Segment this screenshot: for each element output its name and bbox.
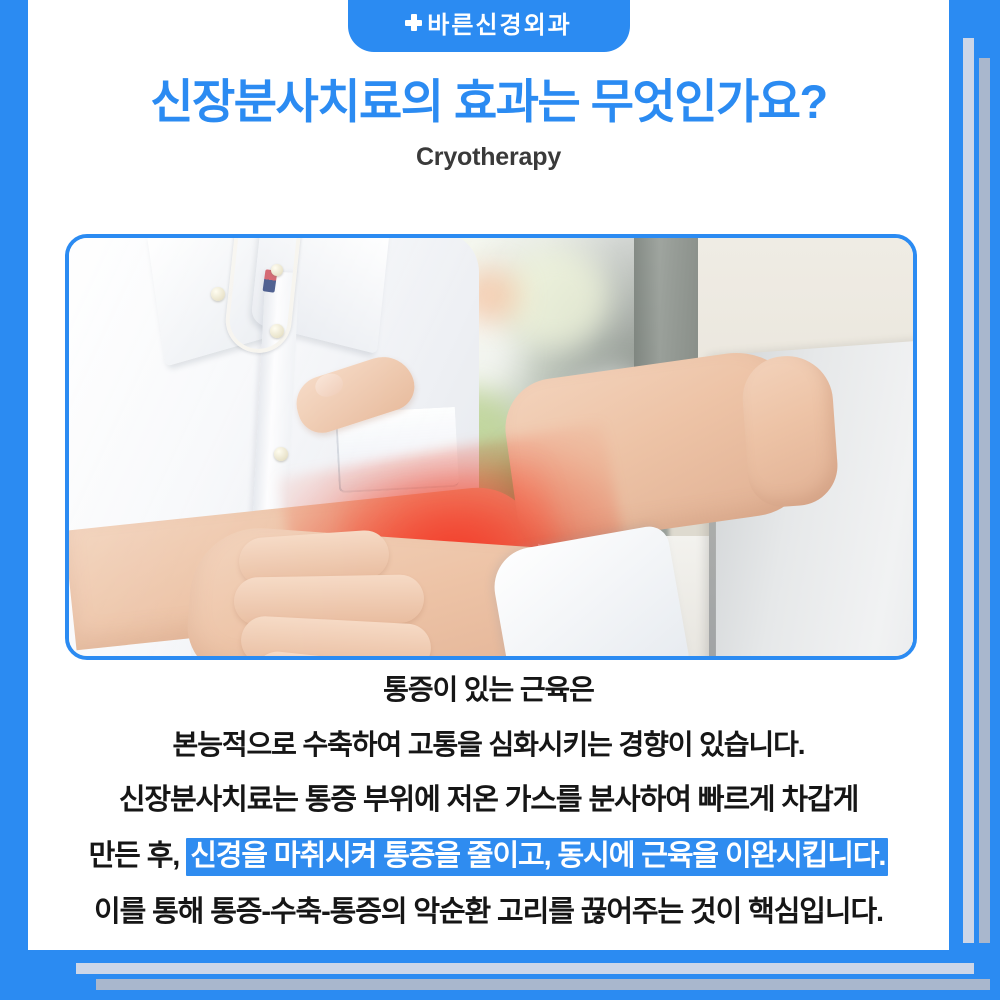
body-line-1: 통증이 있는 근육은	[28, 676, 949, 704]
content-card: 바른신경외과 신장분사치료의 효과는 무엇인가요? Cryotherapy	[28, 0, 954, 955]
body-copy: 통증이 있는 근육은 본능적으로 수축하여 고통을 심화시키는 경향이 있습니다…	[28, 676, 949, 927]
shirt-button	[274, 447, 288, 461]
hero-image-frame	[65, 234, 917, 660]
hero-image	[69, 238, 913, 656]
page-title: 신장분사치료의 효과는 무엇인가요?	[28, 76, 949, 129]
shirt-button	[270, 324, 284, 338]
page-subtitle: Cryotherapy	[28, 145, 949, 170]
body-line-2: 본능적으로 수축하여 고통을 심화시키는 경향이 있습니다.	[28, 731, 949, 759]
fist-knuckles	[740, 353, 840, 509]
header-block: 신장분사치료의 효과는 무엇인가요? Cryotherapy	[28, 76, 949, 170]
body-line-3: 신장분사치료는 통증 부위에 저온 가스를 분사하여 빠르게 차갑게	[28, 786, 949, 815]
clinic-badge[interactable]: 바른신경외과	[348, 0, 630, 52]
decorative-stripe-horizontal-outer	[76, 963, 974, 974]
body-line-5: 이를 통해 통증-수축-통증의 악순환 고리를 끊어주는 것이 핵심입니다.	[28, 898, 949, 927]
medical-cross-icon	[405, 14, 422, 31]
decorative-stripe-horizontal-inner	[96, 979, 990, 990]
body-line-4: 만든 후, 신경을 마취시켜 통증을 줄이고, 동시에 근육을 이완시킵니다.	[28, 842, 949, 871]
decorative-stripe-vertical-inner	[979, 58, 990, 943]
shirt-button	[211, 287, 225, 301]
shirt-button	[271, 264, 283, 276]
body-line-4-prefix: 만든 후,	[89, 840, 187, 872]
body-line-4-highlight: 신경을 마취시켜 통증을 줄이고, 동시에 근육을 이완시킵니다.	[186, 838, 888, 876]
decorative-stripe-vertical-outer	[963, 38, 974, 943]
card-news-poster: 바른신경외과 신장분사치료의 효과는 무엇인가요? Cryotherapy	[0, 0, 1000, 1000]
clinic-name: 바른신경외과	[427, 14, 571, 38]
